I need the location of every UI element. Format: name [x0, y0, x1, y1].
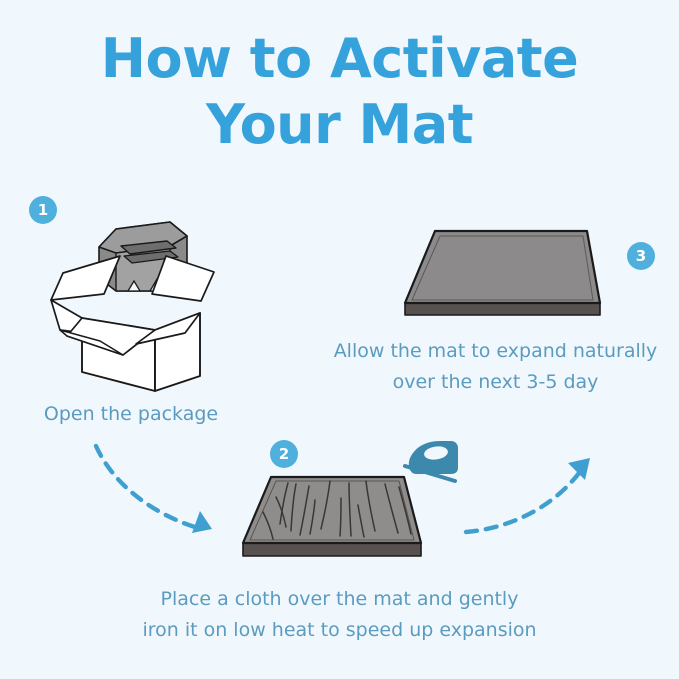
iron-icon — [405, 441, 458, 481]
step-badge-2: 2 — [270, 440, 298, 468]
mat-2-base — [243, 543, 421, 556]
arrow-step1-to-step2 — [96, 446, 212, 533]
page-title: How to Activate Your Mat — [0, 26, 679, 158]
rolled-mat-in-box — [99, 222, 187, 291]
box-flap-front-right — [136, 313, 200, 344]
box-body-side — [155, 313, 200, 391]
infographic-canvas: How to Activate Your Mat — [0, 0, 679, 679]
mat-3-base — [405, 303, 600, 315]
title-line-1: How to Activate — [0, 26, 679, 92]
step-caption-2: Place a cloth over the mat and gently ir… — [117, 584, 562, 646]
arrow-step2-to-step3 — [466, 458, 590, 532]
title-line-2: Your Mat — [0, 92, 679, 158]
mat-2-top — [243, 477, 421, 543]
step-caption-3: Allow the mat to expand naturally over t… — [312, 336, 679, 398]
step-badge-1: 1 — [29, 196, 57, 224]
step-3-illustration — [405, 231, 600, 315]
step-badge-3: 3 — [627, 242, 655, 270]
box-body-front — [82, 318, 155, 391]
step-caption-1: Open the package — [0, 399, 262, 430]
box-flap-inner-left — [60, 330, 123, 355]
box-flap-back-right — [152, 256, 214, 301]
box-flap-front-center — [67, 318, 155, 355]
box-flap-back-left — [51, 256, 120, 300]
cloth-wrinkles — [263, 481, 411, 539]
step-1-illustration — [51, 222, 214, 391]
box-flap-front-left — [51, 300, 82, 332]
mat-3-top — [405, 231, 600, 303]
